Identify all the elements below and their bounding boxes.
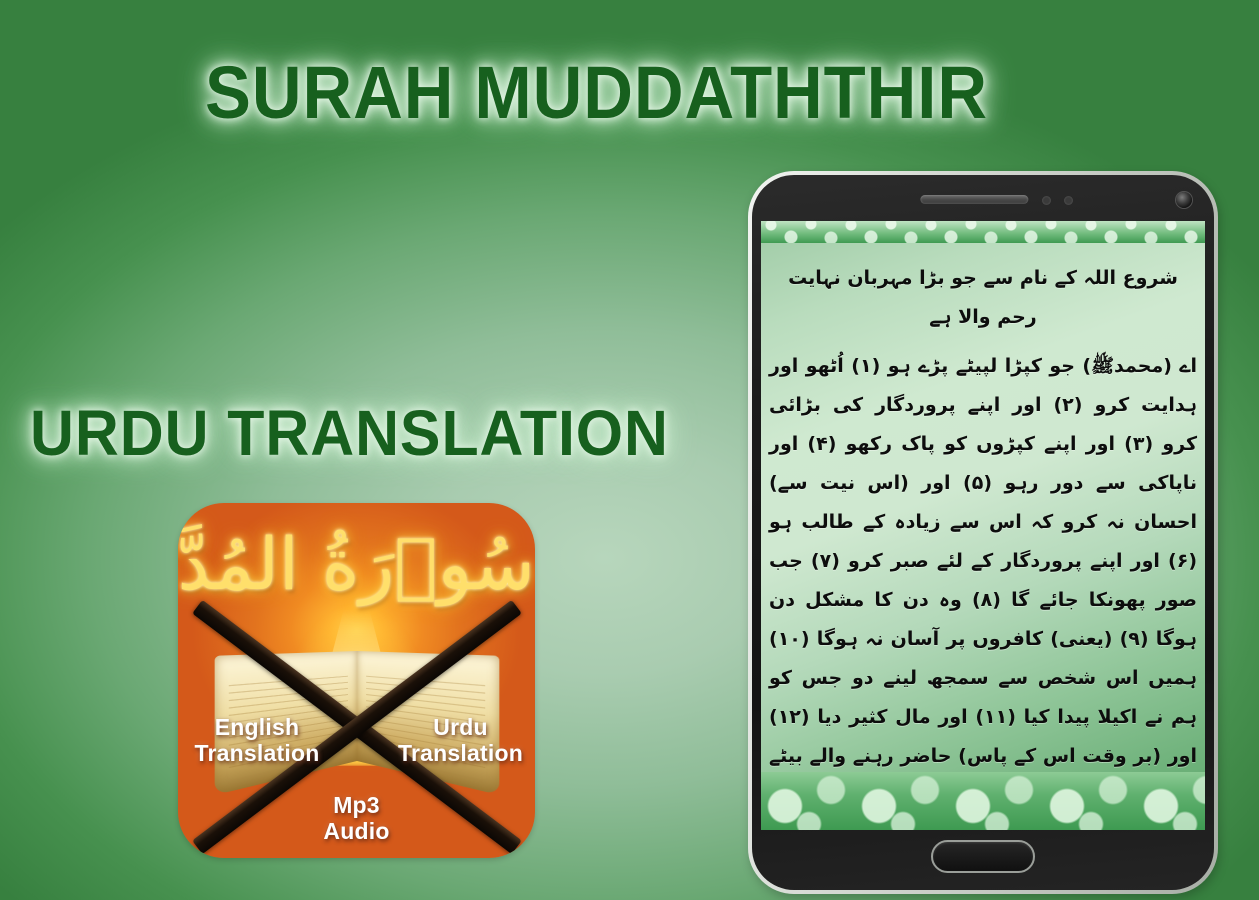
icon-label-mp3-audio: Mp3 Audio <box>178 793 535 845</box>
phone-bottom-bezel <box>752 830 1214 890</box>
icon-label-urdu: Urdu Translation <box>398 715 523 767</box>
decorative-border-top <box>761 221 1205 243</box>
front-camera-icon <box>1176 192 1192 208</box>
page-title: SURAH MUDDATHTHIR <box>205 50 988 135</box>
app-icon[interactable]: سُوۡرَةُ المُدَّثِّر English Translation… <box>178 503 535 858</box>
phone-bezel: شروع اللہ کے نام سے جو بڑا مہربان نہایت … <box>752 175 1214 890</box>
icon-label-urdu-line2: Translation <box>398 741 523 767</box>
icon-label-mp3-line1: Mp3 <box>178 793 535 819</box>
ayah-text: اے (محمدﷺ) جو کپڑا لپیٹے پڑے ہو (۱) اُٹھ… <box>769 347 1197 772</box>
speaker-grille-icon <box>920 195 1028 204</box>
promo-banner: SURAH MUDDATHTHIR URDU TRANSLATION سُوۡر… <box>0 0 1259 900</box>
icon-label-english-line2: Translation <box>192 741 322 767</box>
home-button[interactable] <box>931 840 1035 873</box>
arabic-surah-title: سُوۡرَةُ المُدَّثِّر <box>178 527 535 603</box>
phone-mockup: شروع اللہ کے نام سے جو بڑا مہربان نہایت … <box>748 171 1218 894</box>
icon-label-mp3-line2: Audio <box>178 819 535 845</box>
proximity-sensor-icon <box>1042 196 1051 205</box>
decorative-border-bottom <box>761 772 1205 830</box>
page-subtitle: URDU TRANSLATION <box>30 396 669 470</box>
icon-label-english: English Translation <box>192 715 322 767</box>
bismillah-text: شروع اللہ کے نام سے جو بڑا مہربان نہایت … <box>769 259 1197 337</box>
light-sensor-icon <box>1064 196 1073 205</box>
phone-top-bezel <box>752 175 1214 221</box>
surah-text-content[interactable]: شروع اللہ کے نام سے جو بڑا مہربان نہایت … <box>765 245 1201 772</box>
icon-label-english-line1: English <box>192 715 322 741</box>
icon-label-urdu-line1: Urdu <box>398 715 523 741</box>
phone-screen[interactable]: شروع اللہ کے نام سے جو بڑا مہربان نہایت … <box>761 221 1205 830</box>
